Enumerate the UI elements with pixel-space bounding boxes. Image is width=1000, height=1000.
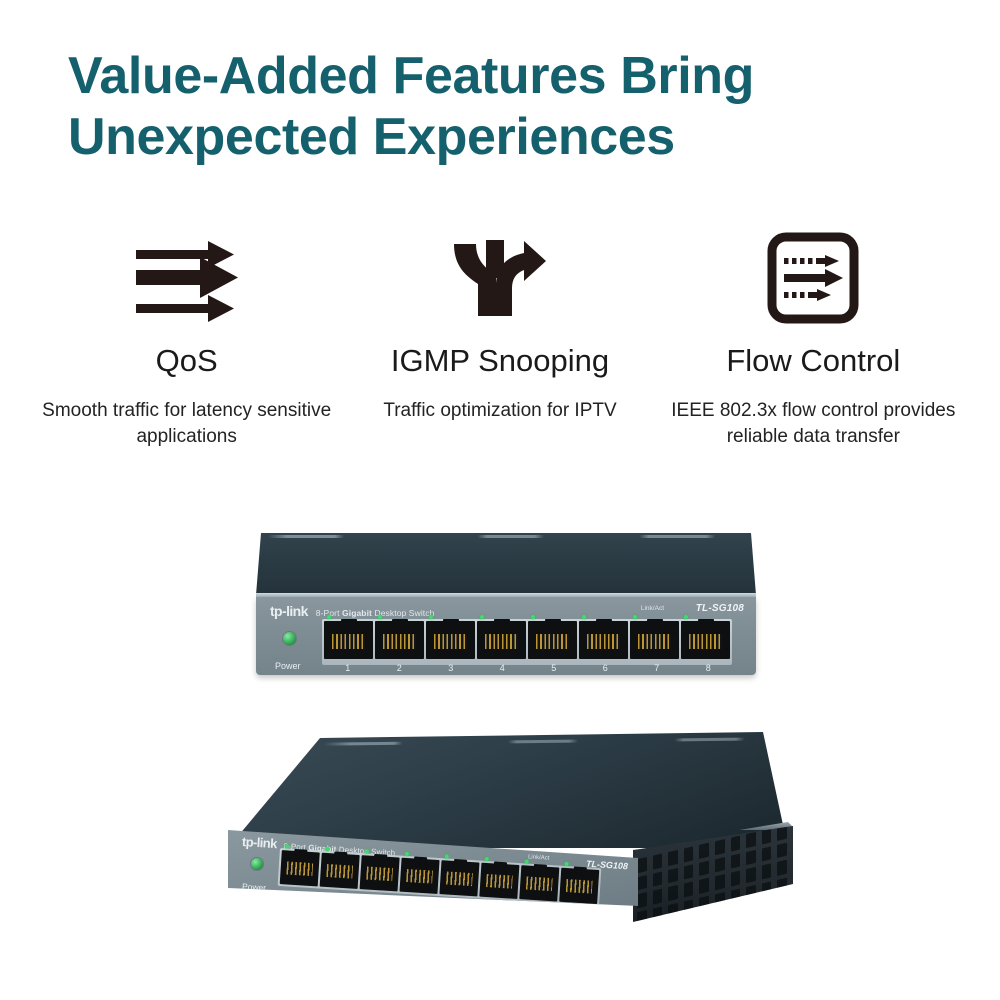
port-number: 6: [489, 901, 532, 914]
rj45-port: [528, 621, 577, 659]
port-led-icon: [633, 615, 637, 619]
rj45-port: [280, 850, 320, 886]
page-title: Value-Added Features Bring Unexpected Ex…: [68, 46, 948, 168]
rj45-port: [375, 621, 424, 659]
feature-item-flow-control: Flow Control IEEE 802.3x flow control pr…: [657, 228, 970, 450]
rj45-port: [324, 621, 373, 659]
port-led-icon: [365, 849, 369, 853]
feature-description: IEEE 802.3x flow control provides reliab…: [663, 398, 963, 450]
feature-description: Smooth traffic for latency sensitive app…: [37, 398, 337, 450]
switch-top-cover: [256, 533, 756, 595]
page-title-line-2: Unexpected Experiences: [68, 107, 948, 168]
link-act-label: Link/Act: [641, 605, 664, 612]
port-number-labels: 1 2 3 4 5 6 7 8: [322, 663, 734, 673]
port-led-icon: [485, 857, 489, 861]
rj45-port: [426, 621, 475, 659]
feature-item-igmp-snooping: IGMP Snooping Traffic optimization for I…: [343, 228, 656, 424]
port-number: 5: [528, 663, 580, 673]
port-led-icon: [480, 615, 484, 619]
port-number: 3: [425, 663, 477, 673]
feature-title: Flow Control: [726, 344, 900, 378]
switch-model-number: TL-SG108: [696, 603, 744, 614]
port-led-icon: [429, 615, 433, 619]
rj45-port-block: [322, 619, 732, 665]
switch-front-panel: tp-link 8-Port Gigabit Desktop Switch Li…: [256, 597, 756, 675]
network-switch-angled-view: tp-link 8-Port Gigabit Desktop Switch Li…: [228, 730, 788, 915]
port-number: 7: [631, 663, 683, 673]
port-led-icon: [564, 862, 568, 866]
port-number: 3: [363, 893, 406, 906]
rj45-port: [439, 860, 479, 896]
power-label: Power: [275, 661, 301, 671]
rj45-port: [360, 855, 400, 891]
rj45-port: [681, 621, 730, 659]
port-number: 8: [683, 663, 735, 673]
port-led-icon: [285, 844, 289, 848]
power-led-indicator: [250, 857, 264, 871]
port-led-icon: [327, 615, 331, 619]
port-number: 4: [405, 896, 448, 909]
port-number: 6: [580, 663, 632, 673]
link-act-label: Link/Act: [528, 854, 550, 861]
port-led-icon: [684, 615, 688, 619]
network-switch-front-view: tp-link 8-Port Gigabit Desktop Switch Li…: [256, 533, 756, 681]
port-led-icon: [582, 615, 586, 619]
port-number: 4: [477, 663, 529, 673]
port-led-icon: [531, 615, 535, 619]
branching-arrow-icon: [448, 228, 552, 328]
tp-link-logo: tp-link: [242, 834, 278, 851]
port-number: 8: [573, 906, 616, 919]
rj45-port: [579, 621, 628, 659]
switch-top-cover: [228, 730, 788, 848]
rj45-port: [559, 868, 599, 904]
port-number: 2: [374, 663, 426, 673]
flow-control-box-icon: [767, 228, 859, 328]
port-number: 1: [279, 888, 322, 901]
rj45-port: [320, 853, 360, 889]
rj45-port: [399, 858, 439, 894]
feature-title: QoS: [156, 344, 218, 378]
port-led-icon: [378, 615, 382, 619]
port-led-icon: [325, 847, 329, 851]
feature-description: Traffic optimization for IPTV: [383, 398, 616, 424]
port-led-icon: [405, 852, 409, 856]
port-number: 5: [447, 899, 490, 912]
port-number: 1: [322, 663, 374, 673]
rj45-port: [630, 621, 679, 659]
feature-item-qos: QoS Smooth traffic for latency sensitive…: [30, 228, 343, 450]
power-label: Power: [242, 881, 267, 892]
tp-link-logo: tp-link: [270, 603, 308, 619]
port-led-icon: [445, 854, 449, 858]
switch-branding: tp-link 8-Port Gigabit Desktop Switch: [270, 603, 434, 619]
port-led-icon: [525, 859, 529, 863]
power-led-indicator: [282, 631, 297, 646]
page-title-line-1: Value-Added Features Bring: [68, 46, 948, 107]
rj45-port-block: [278, 848, 602, 906]
port-number: 2: [321, 891, 364, 904]
feature-title: IGMP Snooping: [391, 344, 609, 378]
rj45-port: [479, 863, 519, 899]
rj45-port: [519, 865, 559, 901]
port-number: 7: [531, 904, 574, 917]
three-arrows-icon: [134, 228, 240, 328]
feature-list: QoS Smooth traffic for latency sensitive…: [30, 228, 970, 450]
switch-description: 8-Port Gigabit Desktop Switch: [316, 608, 435, 618]
rj45-port: [477, 621, 526, 659]
